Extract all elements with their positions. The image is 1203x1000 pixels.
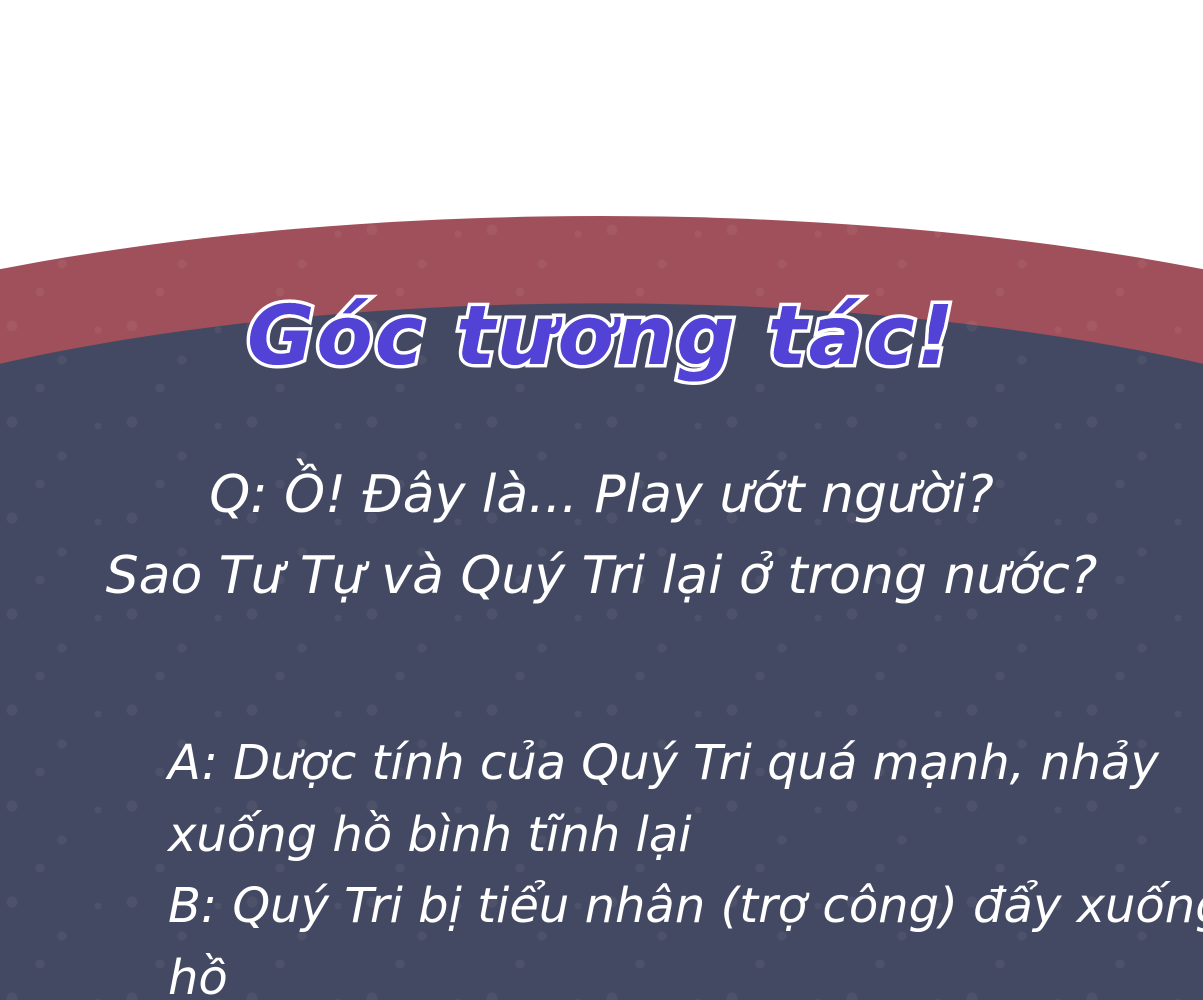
answer-line-a-1: A: Dược tính của Quý Tri quá mạnh, nhảy bbox=[168, 728, 1188, 800]
answer-line-a-2: xuống hồ bình tĩnh lại bbox=[168, 800, 1188, 872]
question-block: Q: Ồ! Đây là... Play ướt người? Sao Tư T… bbox=[0, 455, 1203, 616]
answer-line-b-2: hồ bbox=[168, 943, 1188, 1000]
comic-interaction-panel: Góc tương tác! Góc tương tác! Q: Ồ! Đây … bbox=[0, 0, 1203, 1000]
answer-line-b-1: B: Quý Tri bị tiểu nhân (trợ công) đẩy x… bbox=[168, 871, 1188, 943]
question-line-1: Q: Ồ! Đây là... Play ướt người? bbox=[0, 455, 1203, 536]
section-title-outline: Góc tương tác! bbox=[0, 296, 1203, 378]
answer-block: A: Dược tính của Quý Tri quá mạnh, nhảy … bbox=[168, 728, 1188, 1000]
question-line-2: Sao Tư Tự và Quý Tri lại ở trong nước? bbox=[0, 536, 1203, 617]
